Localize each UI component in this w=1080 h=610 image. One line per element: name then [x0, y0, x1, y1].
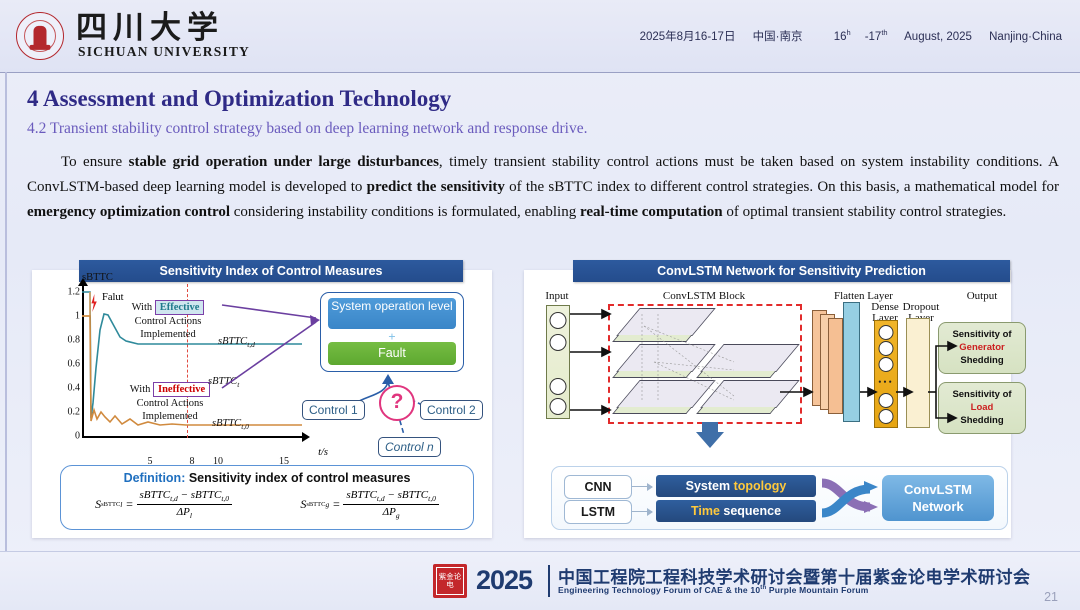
right-panel-title: ConvLSTM Network for Sensitivity Predict…: [573, 260, 1010, 282]
annot-eff-l3: Implemented: [140, 329, 195, 340]
question-mark-icon: ?: [379, 385, 415, 421]
label-output: Output: [944, 290, 1020, 302]
para-bold-2: predict the sensitivity: [367, 179, 505, 195]
system-operation-level-label: System operation level: [328, 298, 456, 329]
place-cn: 中国·南京: [753, 31, 803, 43]
definition-title: Definition: Sensitivity index of control…: [61, 471, 473, 485]
curve-label-t: sBTTCt: [208, 376, 239, 389]
para-bold-1: stable grid operation under large distur…: [129, 154, 439, 170]
para-seg-5: of optimal transient stability control s…: [723, 204, 1007, 220]
curve-label-t0: sBTTCt,0: [212, 418, 249, 431]
definition-box: Definition: Sensitivity index of control…: [60, 465, 474, 530]
date-en: 16h-17th August, 2025: [820, 31, 972, 43]
tag-ineffective: Ineffective: [153, 382, 210, 397]
annotation-ineffective: With Ineffective Control Actions Impleme…: [118, 382, 222, 423]
footer-title-en: Engineering Technology Forum of CAE & th…: [558, 585, 869, 595]
forum-seal-text: 紫金论电: [436, 567, 464, 595]
annot-ineff-l3: Implemented: [142, 411, 197, 422]
lstm-box: LSTM: [564, 500, 632, 524]
para-bold-4: real-time computation: [580, 204, 723, 220]
cnn-box: CNN: [564, 475, 632, 499]
y-tick-4: 0.8: [54, 335, 80, 346]
section-title: 4 Assessment and Optimization Technology: [27, 86, 451, 112]
page-header: 四川大学 SICHUAN UNIVERSITY 2025年8月16-17日 中国…: [0, 0, 1080, 73]
annot-ineff-l2: Control Actions: [137, 398, 204, 409]
date-cn: 2025年8月16-17日: [640, 31, 736, 43]
control-n-box[interactable]: Control n: [378, 437, 441, 457]
annotation-effective: With Effective Control Actions Implement…: [120, 300, 216, 341]
chart-y-axis: [82, 284, 84, 436]
output-load-box: Sensitivity of Load Shedding: [938, 382, 1026, 434]
annot-eff-pre: With: [132, 302, 153, 313]
merge-arrows-icon: [818, 473, 880, 523]
sub-section-title: 4.2 Transient stability control strategy…: [27, 120, 587, 138]
system-topology-box: System topology: [656, 475, 816, 497]
control-2-box[interactable]: Control 2: [420, 400, 483, 420]
formula-generator: SsBTTCg = sBTTCt,d − sBTTCt,0 ΔPg: [300, 489, 439, 520]
para-seg-3: of the sBTTC index to different control …: [505, 179, 1059, 195]
y-tick-0: 0: [54, 431, 80, 442]
y-tick-1: 0.2: [54, 407, 80, 418]
university-logo: 四川大学 SICHUAN UNIVERSITY: [16, 12, 250, 61]
place-en: Nanjing·China: [989, 31, 1062, 43]
y-tick-3: 0.6: [54, 359, 80, 370]
y-tick-5: 1: [54, 311, 80, 322]
conference-date-location: 2025年8月16-17日 中国·南京 16h-17th August, 202…: [626, 28, 1062, 44]
curve-label-td: sBTTCt,d: [218, 336, 255, 349]
body-paragraph: To ensure stable grid operation under la…: [27, 150, 1059, 225]
y-tick-2: 0.4: [54, 383, 80, 394]
left-panel-title: Sensitivity Index of Control Measures: [79, 260, 463, 282]
page-footer: 紫金论电 2025 中国工程院工程科技学术研讨会暨第十届紫金论电学术研讨会 En…: [0, 551, 1080, 610]
y-tick-6: 1.2: [54, 287, 80, 298]
convlstm-network-box: ConvLSTMNetwork: [882, 475, 994, 521]
label-input: Input: [534, 290, 580, 302]
flatten-layer-bar: [843, 302, 860, 422]
control-1-box[interactable]: Control 1: [302, 400, 365, 420]
flatten-slice-3: [828, 318, 843, 414]
left-accent-rule: [5, 72, 7, 610]
architecture-flow-box: CNN LSTM System topology Time sequence C…: [551, 466, 1008, 530]
footer-year: 2025: [476, 565, 532, 596]
input-layer-column: [546, 305, 570, 419]
arrow-cnn: [632, 486, 652, 487]
university-name-en: SICHUAN UNIVERSITY: [78, 44, 250, 60]
para-seg-1: To ensure: [61, 154, 129, 170]
university-name-cn: 四川大学: [76, 12, 250, 45]
footer-divider: [548, 565, 550, 597]
page-number: 21: [1044, 590, 1058, 604]
lightning-bolt-icon: [90, 294, 98, 312]
dense-layer-column: •••: [874, 320, 898, 428]
annot-eff-l2: Control Actions: [135, 316, 202, 327]
definition-keyword: Definition:: [124, 471, 186, 485]
system-state-box: System operation level + Fault: [320, 292, 464, 372]
annot-ineff-pre: With: [130, 384, 151, 395]
output-generator-box: Sensitivity of Generator Shedding: [938, 322, 1026, 374]
university-seal-icon: [16, 12, 64, 60]
para-seg-4: considering instability conditions is fo…: [230, 204, 580, 220]
definition-rest: Sensitivity index of control measures: [185, 471, 410, 485]
formula-load: SsBTTCl = sBTTCt,d − sBTTCt,0 ΔPl: [95, 489, 232, 520]
forum-seal-icon: 紫金论电: [433, 564, 467, 598]
arrow-lstm: [632, 511, 652, 512]
para-bold-3: emergency optimization control: [27, 204, 230, 220]
chart-x-axis-label: t/s: [318, 447, 328, 458]
dropout-layer-column: [906, 318, 930, 428]
definition-formulas: SsBTTCl = sBTTCt,d − sBTTCt,0 ΔPl SsBTTC…: [61, 489, 473, 520]
plus-icon: +: [388, 331, 395, 342]
time-sequence-box: Time sequence: [656, 500, 816, 522]
label-convlstm-block: ConvLSTM Block: [634, 290, 774, 302]
tag-effective: Effective: [155, 300, 205, 315]
fault-label: Fault: [328, 342, 456, 365]
chart-x-axis: [82, 436, 302, 438]
